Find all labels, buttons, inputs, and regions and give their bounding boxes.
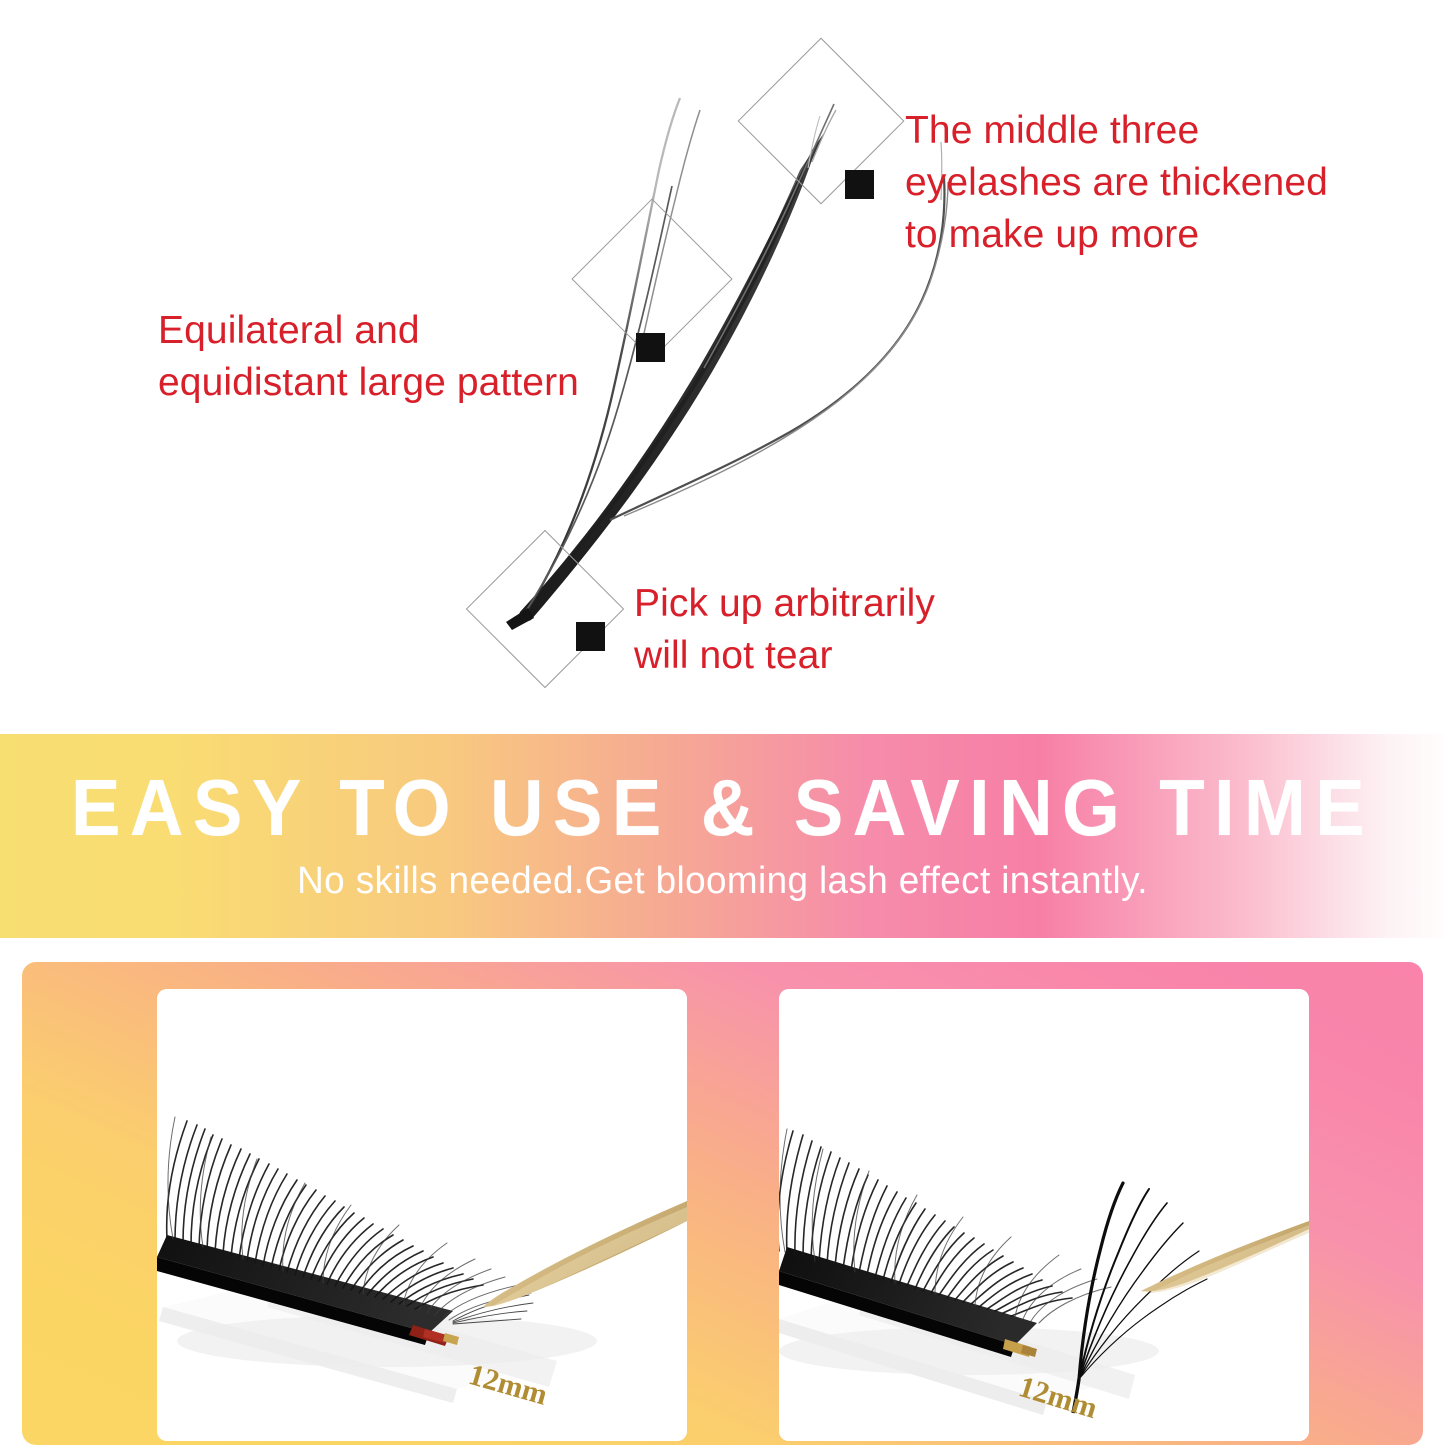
banner-subheadline: No skills needed.Get blooming lash effec… — [22, 860, 1424, 903]
callout-bullet-2 — [636, 333, 665, 362]
annotation-middle-three: The middle three eyelashes are thickened… — [905, 105, 1328, 261]
banner-headline: EASY TO USE & SAVING TIME — [51, 762, 1395, 854]
lash-tray-with-fan-image: 12mm — [779, 989, 1309, 1441]
feature-callout-section: The middle three eyelashes are thickened… — [0, 0, 1445, 734]
product-photo-left: 12mm — [157, 989, 687, 1441]
callout-bullet-3 — [576, 622, 605, 651]
headline-banner: EASY TO USE & SAVING TIME No skills need… — [0, 734, 1445, 938]
callout-bullet-1 — [845, 170, 874, 199]
lash-tray-with-tweezer-image: 12mm — [157, 989, 687, 1441]
annotation-pick-up: Pick up arbitrarily will not tear — [634, 578, 935, 682]
annotation-equilateral: Equilateral and equidistant large patter… — [158, 305, 579, 409]
product-photo-panel: 12mm — [22, 962, 1423, 1445]
product-photo-right: 12mm — [779, 989, 1309, 1441]
